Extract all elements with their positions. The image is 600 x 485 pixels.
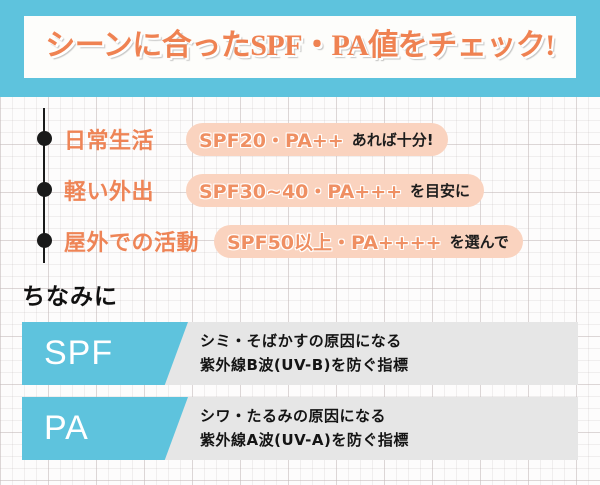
page-title: シーンに合ったSPF・PA値をチェック! — [24, 16, 576, 78]
spf-pa-code: SPF20・PA++ — [199, 126, 344, 153]
timeline-dot — [37, 131, 52, 146]
scene-label: 軽い外出 — [64, 174, 186, 206]
definition-tag-label: PA — [44, 409, 89, 448]
definition-description: シワ・たるみの原因になる 紫外線A波(UV-A)を防ぐ指標 — [200, 404, 409, 452]
scene-row: 日常生活 SPF20・PA++ あれば十分! — [64, 122, 448, 156]
definition-tag: PA — [22, 397, 188, 460]
definition-description: シミ・そばかすの原因になる 紫外線B波(UV-B)を防ぐ指標 — [200, 329, 409, 377]
recommendation-note: あれば十分! — [352, 129, 434, 150]
scene-row: 軽い外出 SPF30~40・PA+++ を目安に — [64, 173, 484, 207]
recommendation-note: を目安に — [410, 180, 470, 201]
aside-intro: ちなみに — [22, 277, 118, 311]
definition-line-1: シミ・そばかすの原因になる — [200, 329, 409, 353]
definition-line-2: 紫外線B波(UV-B)を防ぐ指標 — [200, 353, 409, 377]
timeline-dot — [37, 233, 52, 248]
spf-pa-code: SPF50以上・PA++++ — [227, 228, 442, 255]
recommendation-note: を選んで — [450, 231, 509, 252]
recommendation-pill: SPF30~40・PA+++ を目安に — [186, 174, 484, 207]
scene-label: 屋外での活動 — [64, 225, 214, 257]
header-band: シーンに合ったSPF・PA値をチェック! — [0, 0, 600, 97]
timeline-dot — [37, 182, 52, 197]
definition-row-pa: PA シワ・たるみの原因になる 紫外線A波(UV-A)を防ぐ指標 — [22, 397, 578, 460]
definition-tag: SPF — [22, 322, 188, 385]
infographic-page: シーンに合ったSPF・PA値をチェック! 日常生活 SPF20・PA++ あれば… — [0, 0, 600, 485]
definition-line-1: シワ・たるみの原因になる — [200, 404, 409, 428]
scene-row: 屋外での活動 SPF50以上・PA++++ を選んで — [64, 224, 523, 258]
recommendation-pill: SPF20・PA++ あれば十分! — [186, 123, 448, 156]
definition-tag-label: SPF — [44, 334, 113, 373]
definition-line-2: 紫外線A波(UV-A)を防ぐ指標 — [200, 428, 409, 452]
definition-row-spf: SPF シミ・そばかすの原因になる 紫外線B波(UV-B)を防ぐ指標 — [22, 322, 578, 385]
scene-label: 日常生活 — [64, 123, 186, 155]
recommendation-pill: SPF50以上・PA++++ を選んで — [214, 225, 523, 258]
header-inner-box: シーンに合ったSPF・PA値をチェック! — [24, 16, 576, 78]
spf-pa-code: SPF30~40・PA+++ — [199, 177, 402, 204]
